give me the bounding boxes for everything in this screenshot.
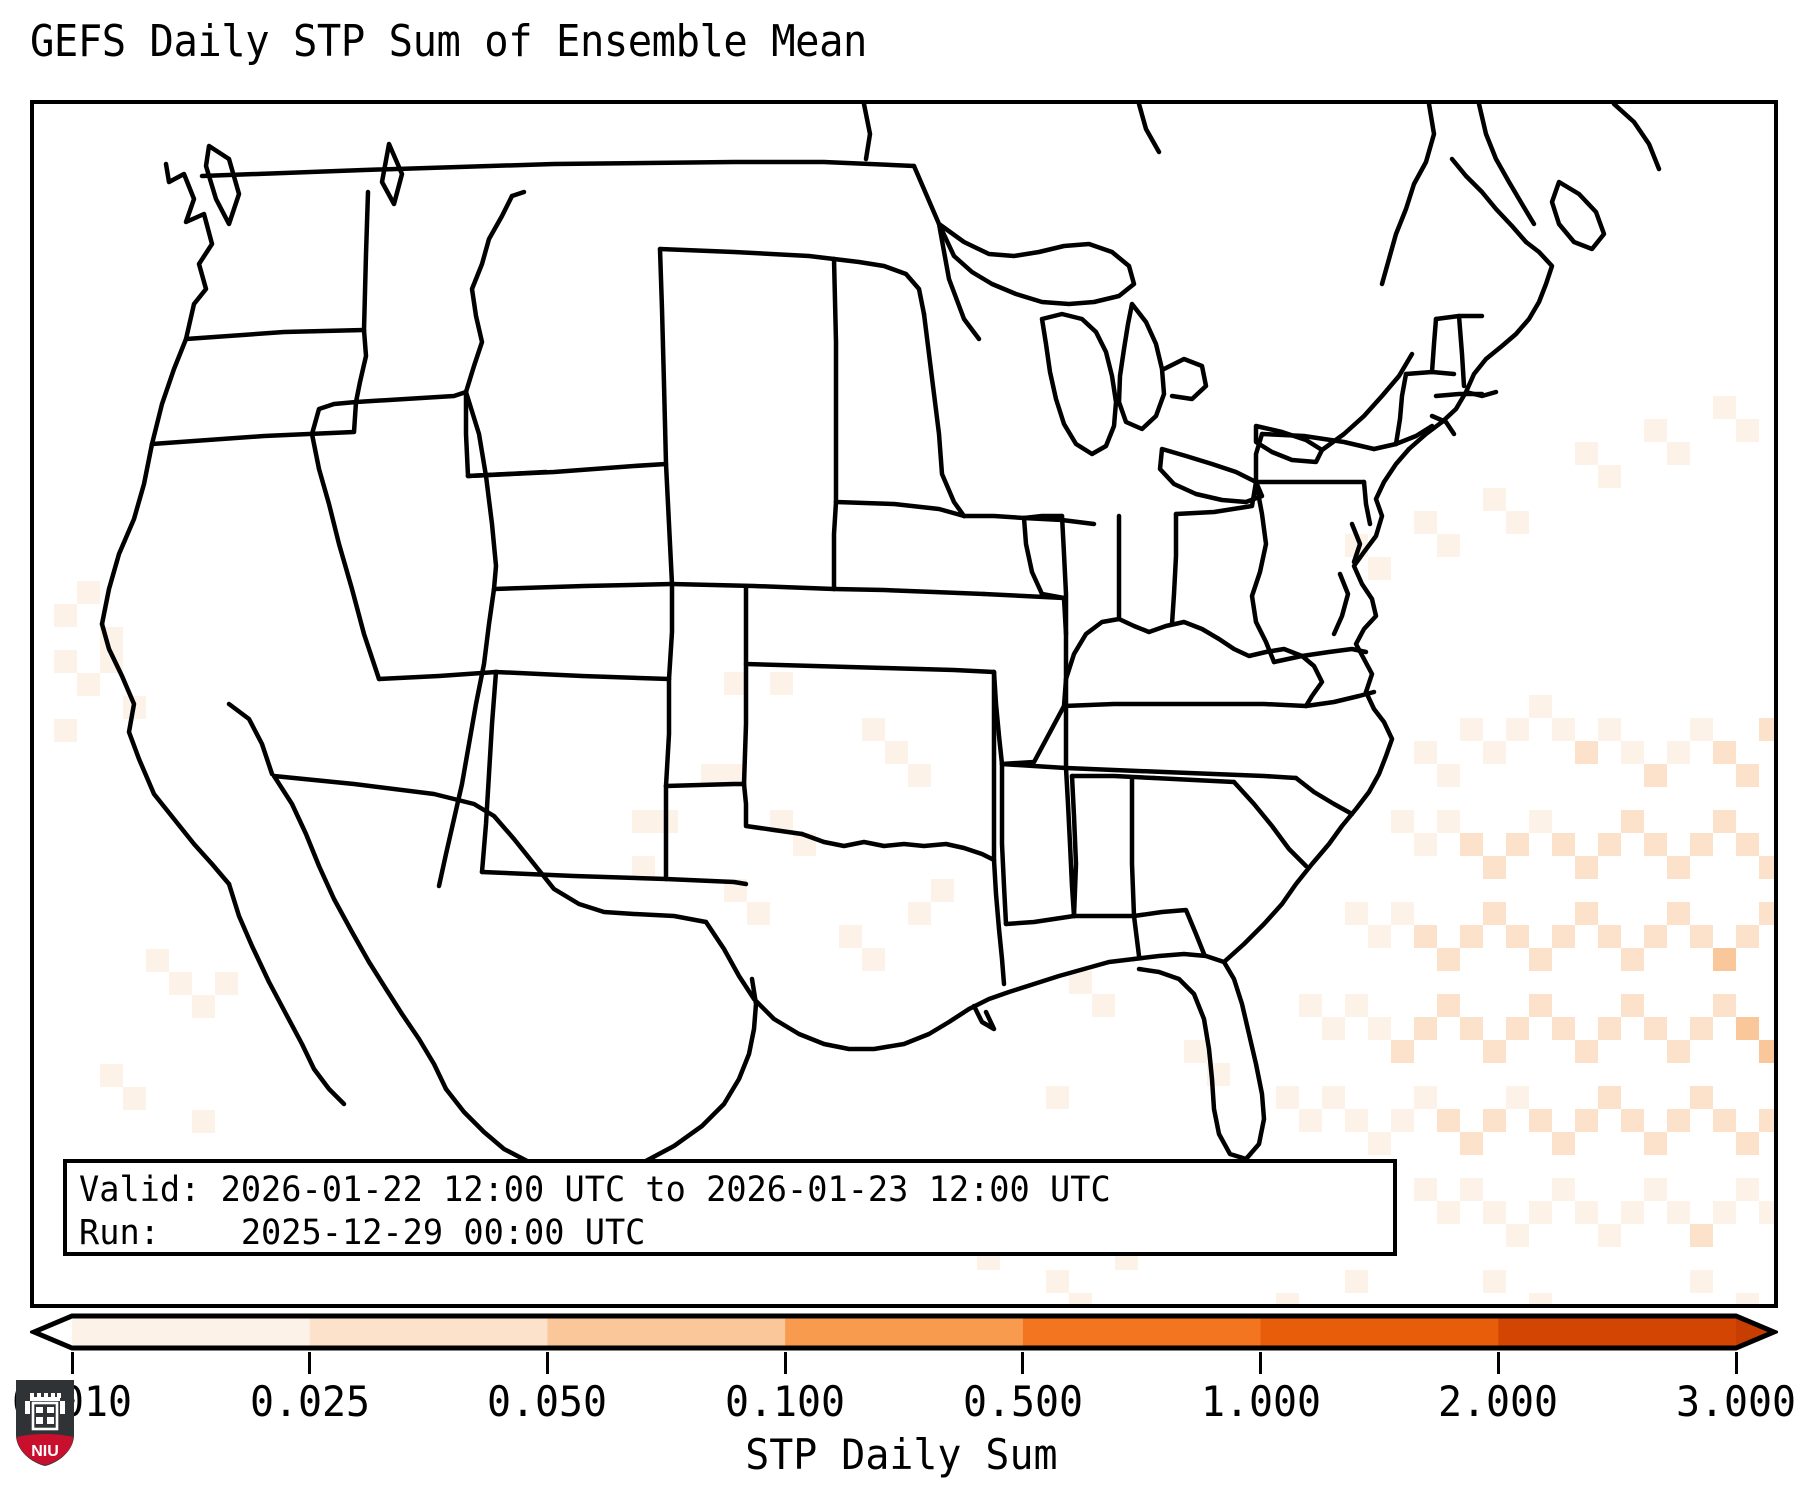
- grid-cell: [770, 672, 793, 695]
- grid-cell: [1621, 810, 1644, 833]
- grid-cell: [215, 972, 238, 995]
- grid-cell: [1690, 1224, 1713, 1247]
- grid-cell: [1414, 833, 1437, 856]
- colorbar-tick: [784, 1352, 787, 1374]
- grid-cell: [724, 879, 747, 902]
- grid-cell: [1437, 810, 1460, 833]
- grid-cell: [1621, 741, 1644, 764]
- grid-cell: [1713, 948, 1736, 971]
- grid-cell: [1598, 1224, 1621, 1247]
- grid-cell: [1483, 856, 1506, 879]
- grid-cell: [1552, 925, 1575, 948]
- grid-cell: [931, 879, 954, 902]
- colorbar-tick-label: 0.500: [963, 1378, 1083, 1426]
- colorbar-segment: [1261, 1316, 1499, 1348]
- grid-cell: [1276, 1293, 1299, 1304]
- grid-cell: [1644, 1132, 1667, 1155]
- grid-cell: [1759, 1201, 1774, 1224]
- grid-cell: [1046, 1270, 1069, 1293]
- grid-cell: [1759, 1040, 1774, 1063]
- grid-cell: [1460, 833, 1483, 856]
- grid-cell: [793, 833, 816, 856]
- grid-cell: [1506, 718, 1529, 741]
- grid-cell: [1322, 1086, 1345, 1109]
- grid-cell: [146, 949, 169, 972]
- grid-cell: [1621, 994, 1644, 1017]
- grid-cell: [1644, 764, 1667, 787]
- grid-cell: [862, 948, 885, 971]
- colorbar-tick-label: 1.000: [1201, 1378, 1321, 1426]
- grid-cell: [1506, 925, 1529, 948]
- grid-cell: [1414, 1178, 1437, 1201]
- grid-cell: [1713, 994, 1736, 1017]
- grid-cell: [1414, 511, 1437, 534]
- grid-cell: [1529, 994, 1552, 1017]
- grid-cell: [1069, 971, 1092, 994]
- colorbar-segment: [310, 1316, 548, 1348]
- grid-cell: [1644, 1017, 1667, 1040]
- grid-cell: [1644, 419, 1667, 442]
- grid-cell: [1690, 1017, 1713, 1040]
- run-time-line: Run: 2025-12-29 00:00 UTC: [79, 1212, 1329, 1255]
- grid-cell: [1529, 695, 1552, 718]
- page-title: GEFS Daily STP Sum of Ensemble Mean: [30, 16, 867, 68]
- grid-cell: [1736, 764, 1759, 787]
- colorbar-tick: [1021, 1352, 1024, 1374]
- grid-cell: [724, 672, 747, 695]
- grid-cell: [1759, 718, 1774, 741]
- grid-cell: [1736, 1178, 1759, 1201]
- grid-cell: [1552, 1178, 1575, 1201]
- colorbar-tick: [1735, 1352, 1738, 1374]
- grid-cell: [1690, 1270, 1713, 1293]
- grid-cell: [1414, 741, 1437, 764]
- grid-cell: [1460, 1132, 1483, 1155]
- grid-cell: [1368, 1132, 1391, 1155]
- grid-cell: [1598, 465, 1621, 488]
- grid-cell: [1667, 442, 1690, 465]
- grid-cell: [1713, 396, 1736, 419]
- grid-cell: [747, 902, 770, 925]
- grid-cell: [1667, 741, 1690, 764]
- grid-cell: [1759, 856, 1774, 879]
- grid-cell: [1299, 1109, 1322, 1132]
- colorbar-tick-label: 0.100: [725, 1378, 845, 1426]
- grid-cell: [1552, 1017, 1575, 1040]
- grid-cell: [123, 696, 146, 719]
- grid-cell: [1345, 902, 1368, 925]
- grid-cell: [1690, 925, 1713, 948]
- grid-cell: [192, 995, 215, 1018]
- grid-cell: [1483, 488, 1506, 511]
- colorbar-tick: [546, 1352, 549, 1374]
- grid-cell: [1414, 925, 1437, 948]
- grid-cell: [1276, 1086, 1299, 1109]
- grid-cell: [1598, 925, 1621, 948]
- colorbar-tick-label: 2.000: [1438, 1378, 1558, 1426]
- grid-cell: [1713, 810, 1736, 833]
- grid-cell: [1667, 856, 1690, 879]
- grid-cell: [1736, 419, 1759, 442]
- grid-cell: [1644, 1178, 1667, 1201]
- colorbar-segment: [785, 1316, 1023, 1348]
- grid-cell: [100, 650, 123, 673]
- colorbar-segment: [1498, 1316, 1736, 1348]
- grid-cell: [123, 1087, 146, 1110]
- grid-cell: [54, 719, 77, 742]
- grid-cell: [1345, 1109, 1368, 1132]
- colorbar-tick-label: 0.050: [487, 1378, 607, 1426]
- niu-logo: NIU: [14, 1377, 76, 1469]
- grid-cell: [1736, 1293, 1759, 1304]
- grid-cell: [1759, 902, 1774, 925]
- colorbar-tick: [1259, 1352, 1262, 1374]
- grid-cell: [1621, 1201, 1644, 1224]
- grid-cell: [1368, 1017, 1391, 1040]
- grid-cell: [1575, 902, 1598, 925]
- grid-cell: [1644, 833, 1667, 856]
- grid-cell: [1529, 1109, 1552, 1132]
- grid-cell: [1437, 1109, 1460, 1132]
- grid-cell: [1529, 948, 1552, 971]
- grid-cell: [1552, 1132, 1575, 1155]
- grid-cell: [54, 604, 77, 627]
- grid-cell: [839, 925, 862, 948]
- grid-cell: [724, 764, 747, 787]
- colorbar-tick: [71, 1352, 74, 1374]
- grid-cell: [1736, 1132, 1759, 1155]
- grid-cell: [1575, 1109, 1598, 1132]
- grid-cell: [1207, 1063, 1230, 1086]
- colorbar-tick: [1497, 1352, 1500, 1374]
- grid-cell: [1092, 994, 1115, 1017]
- valid-time-line: Valid: 2026-01-22 12:00 UTC to 2026-01-2…: [79, 1169, 1329, 1212]
- grid-cell: [1460, 1017, 1483, 1040]
- grid-cell: [1575, 741, 1598, 764]
- grid-cell: [908, 764, 931, 787]
- map-canvas: Valid: 2026-01-22 12:00 UTC to 2026-01-2…: [34, 104, 1774, 1304]
- colorbar-segment: [72, 1316, 310, 1348]
- grid-cell: [1345, 994, 1368, 1017]
- grid-cell: [1575, 1201, 1598, 1224]
- grid-cell: [1184, 1040, 1207, 1063]
- grid-cell: [1529, 810, 1552, 833]
- grid-cell: [1667, 1201, 1690, 1224]
- grid-cell: [77, 673, 100, 696]
- grid-cell: [1345, 1270, 1368, 1293]
- grid-cell: [1575, 1040, 1598, 1063]
- grid-cell: [1598, 833, 1621, 856]
- grid-cell: [1598, 1086, 1621, 1109]
- grid-cell: [1483, 1201, 1506, 1224]
- grid-cell: [1667, 1040, 1690, 1063]
- grid-cell: [1552, 833, 1575, 856]
- grid-cell: [885, 741, 908, 764]
- grid-cell: [1483, 1040, 1506, 1063]
- grid-cell: [1483, 741, 1506, 764]
- grid-cell: [1552, 718, 1575, 741]
- grid-cell: [1391, 902, 1414, 925]
- colorbar-segment: [547, 1316, 785, 1348]
- grid-cell: [1506, 1086, 1529, 1109]
- colorbar-segment: [1023, 1316, 1261, 1348]
- grid-cell: [1506, 1017, 1529, 1040]
- grid-cell: [862, 718, 885, 741]
- grid-cell: [1414, 1086, 1437, 1109]
- grid-cell: [1437, 994, 1460, 1017]
- grid-cell: [770, 810, 793, 833]
- grid-cell: [1391, 1109, 1414, 1132]
- grid-cell: [1460, 925, 1483, 948]
- grid-cell: [1621, 948, 1644, 971]
- grid-cell: [1598, 718, 1621, 741]
- grid-cell: [1506, 1224, 1529, 1247]
- grid-cell: [1299, 994, 1322, 1017]
- logo-text: NIU: [31, 1443, 59, 1460]
- grid-cell: [54, 650, 77, 673]
- grid-cell: [1575, 442, 1598, 465]
- grid-cell: [1713, 1201, 1736, 1224]
- colorbar-axis-label: STP Daily Sum: [0, 1430, 1803, 1480]
- grid-cell: [1368, 557, 1391, 580]
- grid-cell: [1483, 902, 1506, 925]
- grid-cell: [1667, 902, 1690, 925]
- grid-cell: [1483, 1109, 1506, 1132]
- grid-cell: [632, 856, 655, 879]
- valid-run-infobox: Valid: 2026-01-22 12:00 UTC to 2026-01-2…: [63, 1159, 1397, 1256]
- colorbar-axis-label-text: STP Daily Sum: [745, 1430, 1057, 1480]
- grid-cell: [1460, 718, 1483, 741]
- colorbar-tick-label: 0.025: [250, 1378, 370, 1426]
- grid-cell: [1506, 833, 1529, 856]
- grid-cell: [1736, 833, 1759, 856]
- grid-cell: [1690, 833, 1713, 856]
- grid-cell: [1529, 1201, 1552, 1224]
- grid-cell: [1644, 925, 1667, 948]
- colorbar-tick-label: 3.000: [1676, 1378, 1796, 1426]
- grid-cell: [1437, 1201, 1460, 1224]
- grid-cell: [655, 810, 678, 833]
- grid-cell: [1713, 741, 1736, 764]
- grid-cell: [1690, 718, 1713, 741]
- grid-cell: [1736, 1017, 1759, 1040]
- grid-cell: [1391, 810, 1414, 833]
- grid-cell: [1437, 764, 1460, 787]
- grid-cell: [1667, 1109, 1690, 1132]
- grid-cell: [1713, 1109, 1736, 1132]
- stp-data-grid: [34, 104, 1774, 1304]
- grid-cell: [1575, 856, 1598, 879]
- colorbar-gradient: [30, 1312, 1778, 1352]
- grid-cell: [100, 1064, 123, 1087]
- grid-cell: [100, 627, 123, 650]
- grid-cell: [1759, 1109, 1774, 1132]
- map-panel: Valid: 2026-01-22 12:00 UTC to 2026-01-2…: [30, 100, 1778, 1308]
- grid-cell: [1437, 948, 1460, 971]
- grid-cell: [1736, 925, 1759, 948]
- grid-cell: [701, 764, 724, 787]
- grid-cell: [1529, 1293, 1552, 1304]
- grid-cell: [1414, 1017, 1437, 1040]
- grid-cell: [1483, 1270, 1506, 1293]
- colorbar-tick: [308, 1352, 311, 1374]
- grid-cell: [1368, 925, 1391, 948]
- grid-cell: [1598, 1017, 1621, 1040]
- grid-cell: [1046, 1086, 1069, 1109]
- grid-cell: [1391, 1040, 1414, 1063]
- grid-cell: [908, 902, 931, 925]
- grid-cell: [632, 810, 655, 833]
- grid-cell: [1506, 511, 1529, 534]
- grid-cell: [1345, 534, 1368, 557]
- colorbar-ticklabels: 0.0100.0250.0500.1000.5001.0002.0003.000: [0, 1378, 1803, 1434]
- grid-cell: [1437, 534, 1460, 557]
- grid-cell: [1621, 1109, 1644, 1132]
- grid-cell: [1690, 1086, 1713, 1109]
- grid-cell: [1322, 1017, 1345, 1040]
- grid-cell: [1460, 1178, 1483, 1201]
- colorbar: [30, 1312, 1778, 1352]
- grid-cell: [169, 972, 192, 995]
- grid-cell: [192, 1110, 215, 1133]
- grid-cell: [77, 581, 100, 604]
- grid-cell: [1069, 1293, 1092, 1304]
